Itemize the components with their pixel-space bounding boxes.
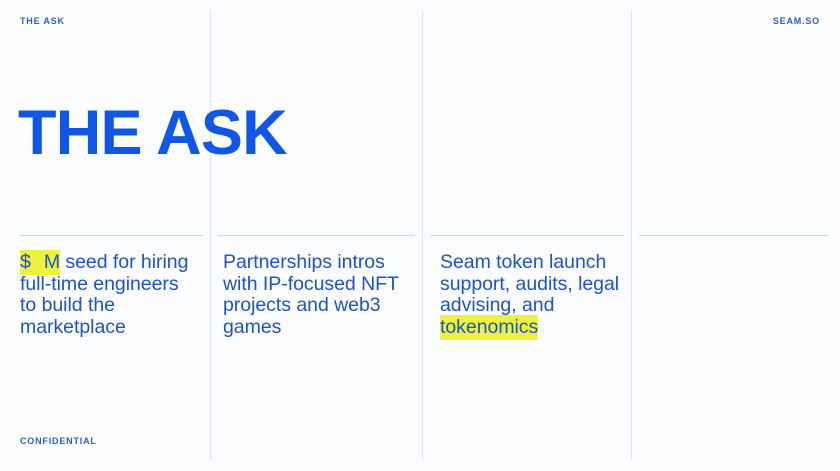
- column-token-text: Seam token launch support, audits, legal…: [440, 251, 619, 316]
- section-label: THE ASK: [20, 16, 65, 26]
- horizontal-grid-line-segment-3: [430, 235, 624, 236]
- vertical-grid-line-3: [631, 10, 632, 460]
- horizontal-grid-line-segment-4: [639, 235, 828, 236]
- tokenomics-highlight: tokenomics: [440, 315, 538, 340]
- slide-the-ask: THE ASK SEAM.SO THE ASK $M seed for hiri…: [0, 0, 840, 471]
- currency-symbol: $: [20, 251, 31, 273]
- funding-amount-highlight: $M: [20, 250, 60, 275]
- horizontal-grid-line-segment-1: [20, 235, 203, 236]
- column-partnerships: Partnerships intros with IP-focused NFT …: [223, 252, 413, 338]
- column-funding: $M seed for hiring full-time engineers t…: [20, 252, 200, 338]
- page-title: THE ASK: [18, 102, 287, 165]
- column-partnerships-text: Partnerships intros with IP-focused NFT …: [223, 251, 399, 338]
- vertical-grid-line-1: [210, 10, 211, 460]
- content-columns: $M seed for hiring full-time engineers t…: [0, 252, 840, 382]
- vertical-grid-line-2: [422, 10, 423, 460]
- brand-label: SEAM.SO: [773, 16, 820, 26]
- amount-unit: M: [44, 251, 60, 273]
- column-token: Seam token launch support, audits, legal…: [440, 252, 620, 338]
- horizontal-grid-line-segment-2: [218, 235, 415, 236]
- confidential-label: CONFIDENTIAL: [20, 436, 97, 446]
